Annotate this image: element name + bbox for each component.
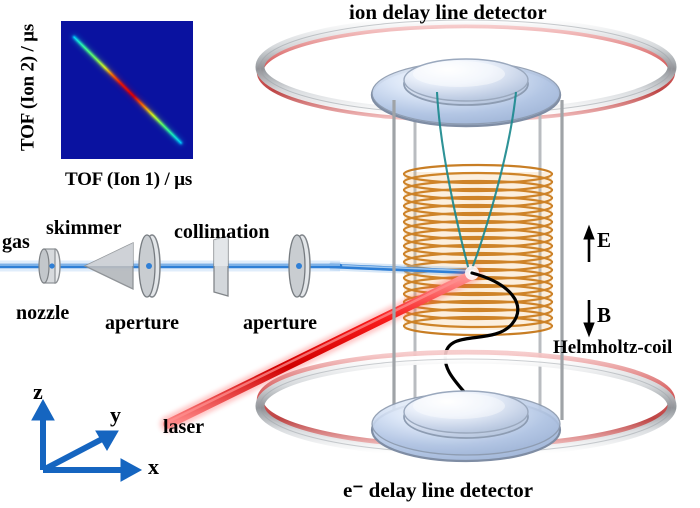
axis-y xyxy=(43,431,118,470)
aperture-2-label: aperture xyxy=(243,313,317,333)
skimmer-element xyxy=(85,243,133,289)
apparatus-scene xyxy=(0,0,700,508)
axis-y-label: y xyxy=(110,404,121,426)
e-field-label: E xyxy=(597,230,611,251)
electron-detector-assembly xyxy=(372,391,560,461)
axis-z-label: z xyxy=(33,381,43,403)
laser-label: laser xyxy=(163,417,204,437)
axis-x-label: x xyxy=(148,456,159,478)
nozzle-label: nozzle xyxy=(16,303,69,323)
molecular-beamline xyxy=(0,235,340,297)
e-field-arrow xyxy=(584,226,594,262)
nozzle-element xyxy=(39,249,60,283)
skimmer-label: skimmer xyxy=(46,218,122,238)
field-direction-arrows xyxy=(584,226,594,336)
aperture-1-element xyxy=(139,235,160,297)
ion-detector-assembly xyxy=(372,59,560,126)
axis-z xyxy=(32,400,54,470)
collimation-label: collimation xyxy=(174,222,270,242)
b-field-arrow xyxy=(584,300,594,336)
ion-detector-label: ion delay line detector xyxy=(349,2,547,23)
aperture-1-label: aperture xyxy=(105,313,179,333)
b-field-label: B xyxy=(597,305,611,326)
figure-canvas: TOF (Ion 2) / µs TOF (Ion 1) / µs xyxy=(0,0,700,508)
helmholtz-coil-label: Helmholtz-coil xyxy=(553,338,672,357)
collimation-element xyxy=(214,236,228,296)
gas-label: gas xyxy=(2,232,30,252)
electron-detector-label: e⁻ delay line detector xyxy=(343,480,533,501)
aperture-2-element xyxy=(289,235,310,297)
coordinate-axes xyxy=(32,400,141,481)
